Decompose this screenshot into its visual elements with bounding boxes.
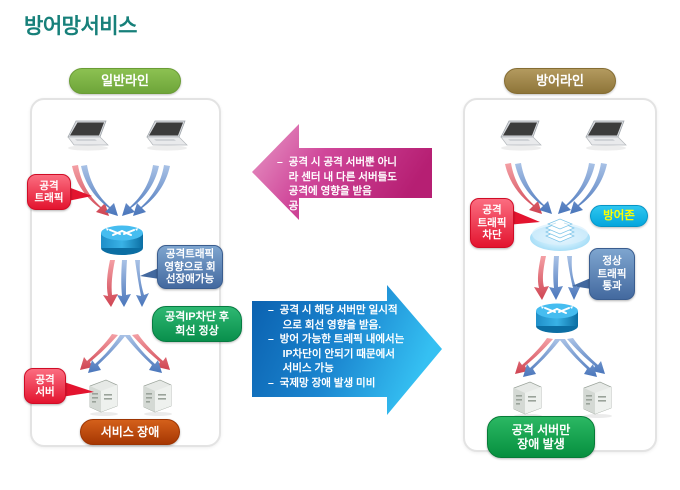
- callout-line-failure-label: 공격트래픽 영향으로 회 선장애가능: [164, 248, 215, 286]
- badge-line-normal-label: 공격IP차단 후 회선 정상: [165, 310, 229, 338]
- badge-line-normal-after-block: 공격IP차단 후 회선 정상: [152, 306, 242, 342]
- callout-attack-traffic: 공격 트래픽: [27, 174, 71, 210]
- callout-attack-blocked-label: 공격 트래픽 차단: [478, 204, 507, 242]
- server-icon: [510, 378, 544, 418]
- laptop-icon: [580, 118, 630, 152]
- callout-attack-server: 공격 서버: [24, 368, 66, 404]
- laptop-icon: [62, 118, 112, 152]
- badge-service-failure: 서비스 장애: [80, 419, 180, 445]
- server-icon: [580, 378, 614, 418]
- laptop-icon: [495, 118, 545, 152]
- server-icon: [140, 376, 174, 416]
- callout-line-failure-possible: 공격트래픽 영향으로 회 선장애가능: [157, 245, 223, 289]
- blue-arrow-text: – 공격 시 해당 서버만 일시적 으로 회선 영향을 받음. – 방어 가능한…: [268, 303, 404, 390]
- badge-attack-server-only-failure: 공격 서버만 장애 발생: [487, 416, 595, 458]
- router-icon: [531, 300, 583, 336]
- badge-attack-only-label: 공격 서버만 장애 발생: [512, 423, 571, 451]
- callout-attack-traffic-blocked: 공격 트래픽 차단: [470, 198, 514, 248]
- router-icon: [96, 222, 148, 258]
- section-header-normal-line: 일반라인: [69, 68, 181, 94]
- section-header-defense-line: 방어라인: [504, 68, 616, 94]
- badge-service-failure-label: 서비스 장애: [101, 425, 160, 439]
- pink-arrow-text: – 공격 시 공격 서버뿐 아니 라 센터 내 다른 서버들도 공격에 영향을 …: [277, 155, 397, 213]
- diagram-canvas: 방어망서비스 일반라인 방어라인: [0, 0, 680, 490]
- page-title: 방어망서비스: [24, 10, 137, 40]
- callout-normal-traffic-pass: 정상 트래픽 통과: [589, 248, 635, 300]
- badge-defense-zone: 방어존: [590, 205, 648, 227]
- laptop-icon: [141, 118, 191, 152]
- callout-normal-traffic-label: 정상 트래픽 통과: [598, 255, 627, 293]
- badge-defense-zone-label: 방어존: [603, 209, 635, 223]
- callout-attack-traffic-label: 공격 트래픽: [35, 180, 64, 205]
- callout-attack-server-label: 공격 서버: [35, 374, 54, 399]
